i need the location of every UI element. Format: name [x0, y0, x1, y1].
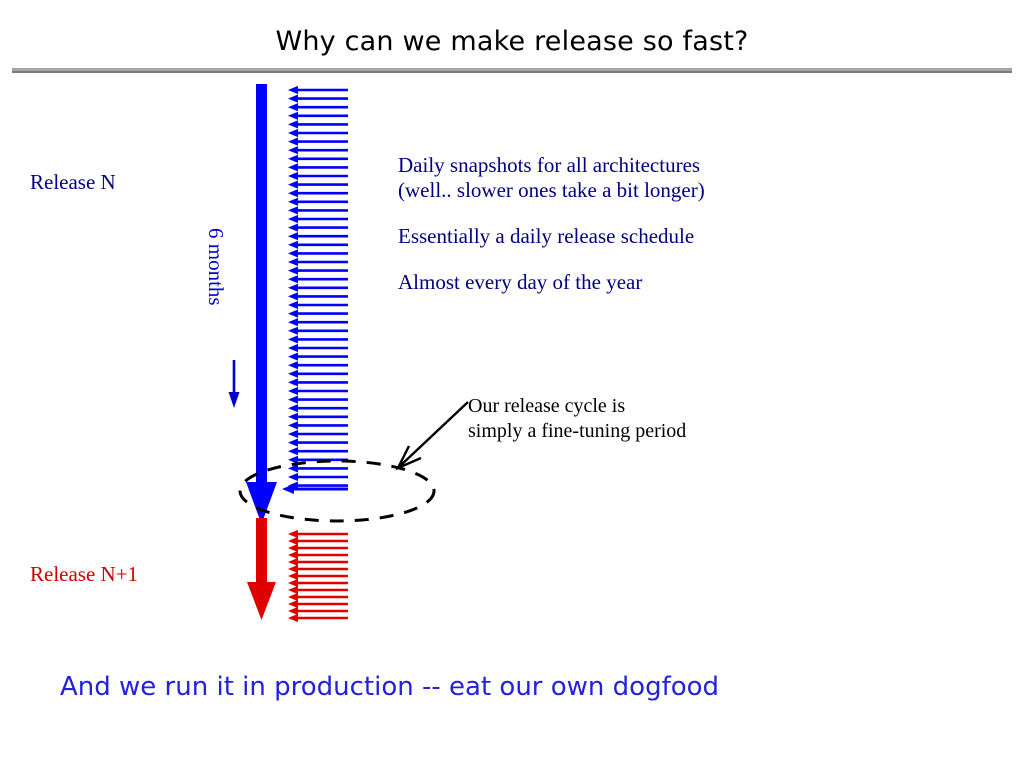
snapshot-arrow-head — [288, 120, 298, 128]
snapshot-arrow-head — [288, 103, 298, 111]
snapshot-arrow-head — [288, 344, 298, 352]
snapshot-arrow-head — [288, 370, 298, 378]
snapshot-arrow-head — [288, 447, 298, 455]
page-title: Why can we make release so fast? — [0, 26, 1024, 57]
snapshot-arrow-head — [288, 95, 298, 103]
snapshot-arrow-head — [288, 112, 298, 120]
body-text-block: Daily snapshots for all architectures (w… — [398, 153, 868, 295]
blue-daily-snapshot-arrows — [280, 84, 360, 496]
body-line-1b: (well.. slower ones take a bit longer) — [398, 178, 868, 203]
snapshot-arrow-head — [288, 353, 298, 361]
snapshot-arrow-head — [288, 172, 298, 180]
snapshot-arrow-head — [288, 146, 298, 154]
body-paragraph-2: Essentially a daily release schedule — [398, 224, 868, 249]
snapshot-arrow-head — [288, 155, 298, 163]
snapshot-arrow-head — [288, 544, 298, 552]
snapshot-arrow-head — [288, 189, 298, 197]
snapshot-arrow-head — [288, 284, 298, 292]
snapshot-arrow-head — [288, 267, 298, 275]
snapshot-arrow-head — [288, 413, 298, 421]
snapshot-arrow-head — [288, 593, 298, 601]
annotation-line-2: simply a fine-tuning period — [468, 419, 798, 444]
snapshot-arrow-head — [288, 249, 298, 257]
snapshot-arrow-head — [288, 558, 298, 566]
snapshot-arrow-head — [288, 310, 298, 318]
snapshot-arrow-head — [288, 232, 298, 240]
snapshot-arrow-head — [288, 129, 298, 137]
snapshot-arrow-head — [288, 206, 298, 214]
snapshot-arrow-head — [288, 215, 298, 223]
body-line-1a: Daily snapshots for all architectures — [398, 153, 868, 178]
body-paragraph-1: Daily snapshots for all architectures (w… — [398, 153, 868, 203]
snapshot-arrow-head — [288, 579, 298, 587]
snapshot-arrow-head — [288, 586, 298, 594]
snapshot-arrow-head — [288, 404, 298, 412]
snapshot-arrow-head — [288, 387, 298, 395]
snapshot-arrow-head — [288, 572, 298, 580]
snapshot-arrow-head — [288, 224, 298, 232]
slide-canvas: Why can we make release so fast? Release… — [0, 0, 1024, 768]
snapshot-arrow-head — [288, 361, 298, 369]
snapshot-arrow-head — [288, 430, 298, 438]
snapshot-arrow-head — [288, 163, 298, 171]
snapshot-arrow-head — [288, 318, 298, 326]
snapshot-arrow-head — [288, 396, 298, 404]
snapshot-arrow-head — [288, 258, 298, 266]
snapshot-arrow-head — [288, 607, 298, 615]
snapshot-arrow-head — [288, 241, 298, 249]
snapshot-arrow-head — [288, 301, 298, 309]
snapshot-arrow-head — [288, 439, 298, 447]
annotation-line-1: Our release cycle is — [468, 394, 798, 419]
title-divider — [12, 68, 1012, 73]
release-n-plus-1-label: Release N+1 — [30, 562, 138, 587]
snapshot-arrow-head — [288, 335, 298, 343]
snapshot-arrow-head — [288, 138, 298, 146]
snapshot-arrow-head — [288, 198, 298, 206]
snapshot-arrow-head — [288, 86, 298, 94]
snapshot-arrow-head — [288, 537, 298, 545]
six-months-label: 6 months — [203, 228, 228, 306]
snapshot-arrow-head — [288, 327, 298, 335]
snapshot-arrow-head — [288, 421, 298, 429]
title-divider-bottom-edge — [12, 71, 1012, 73]
snapshot-arrow-head — [288, 275, 298, 283]
snapshot-arrow-head — [288, 378, 298, 386]
snapshot-arrow-head — [288, 565, 298, 573]
annotation-text-block: Our release cycle is simply a fine-tunin… — [468, 394, 798, 444]
snapshot-arrow-head — [288, 181, 298, 189]
snapshot-arrow-head — [288, 600, 298, 608]
snapshot-arrow-head — [288, 551, 298, 559]
snapshot-arrow-head — [288, 292, 298, 300]
bottom-tagline: And we run it in production -- eat our o… — [60, 672, 960, 702]
body-paragraph-3: Almost every day of the year — [398, 270, 868, 295]
red-daily-snapshot-arrows — [280, 528, 360, 624]
release-n-label: Release N — [30, 170, 116, 195]
annotation-leader-line — [388, 396, 478, 478]
snapshot-arrow-head — [288, 530, 298, 538]
snapshot-arrow-head — [288, 614, 298, 622]
